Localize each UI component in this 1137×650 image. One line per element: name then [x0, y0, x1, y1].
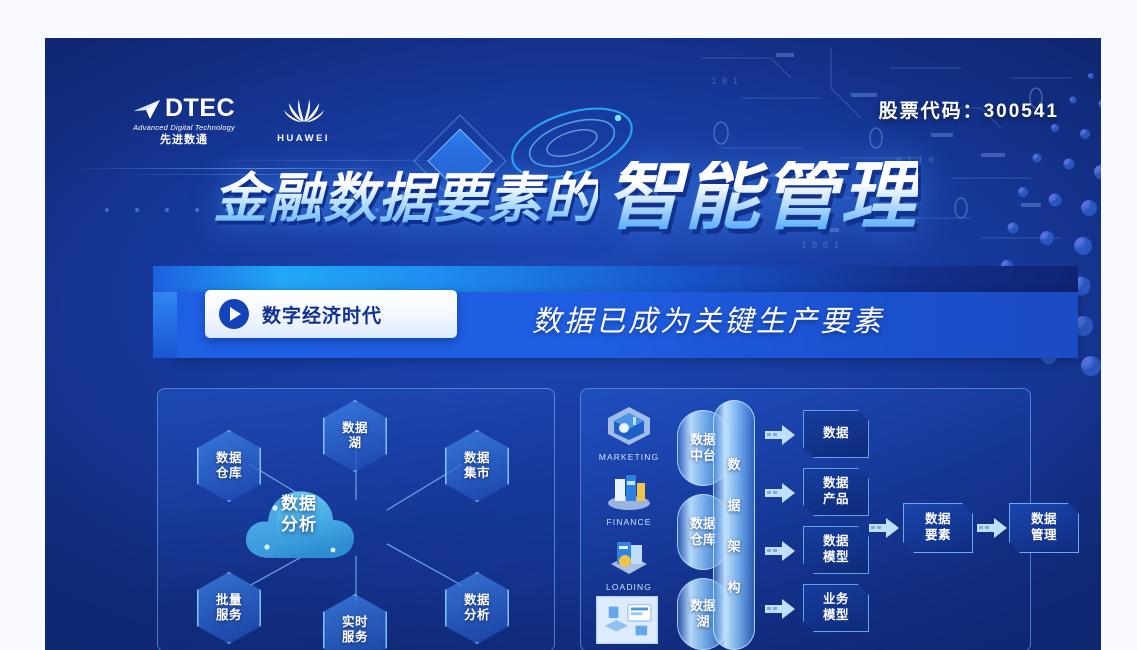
hex-label-line2: 服务: [216, 608, 242, 623]
arrow-right-icon: [765, 482, 795, 504]
output-box-data-product[interactable]: 数据 产品: [803, 468, 869, 516]
presentation-slide: 1 0 10 1 1 01 0 0 1: [45, 38, 1101, 650]
final-label-line1: 数据: [1031, 512, 1057, 526]
arrow-right-icon: [977, 517, 1007, 539]
final-label-line2: 管理: [1031, 528, 1057, 542]
stock-code-label: 股票代码：300541: [879, 96, 1059, 123]
dashboard-thumb-icon[interactable]: [596, 596, 658, 644]
arch-char-3: 架: [727, 536, 740, 555]
hex-label-line2: 湖: [348, 436, 361, 451]
dtec-mark-icon: [133, 98, 163, 120]
final-label-line2: 要素: [925, 528, 951, 542]
data-source-loading[interactable]: LOADING: [590, 534, 668, 598]
hex-label-line1: 数据: [464, 451, 490, 466]
output-box-business-model[interactable]: 业务 模型: [803, 584, 869, 632]
arrow-right-icon: [765, 598, 795, 620]
cube-box-icon: [603, 404, 655, 446]
data-source-column: MARKETING FINANCE LOADING: [590, 404, 668, 599]
huawei-wordmark: HUAWEI: [277, 133, 330, 144]
server-coin-icon: [603, 534, 655, 576]
output-box-data-model[interactable]: 数据 模型: [803, 526, 869, 574]
dtec-tagline: Advanced Digital Technology: [133, 124, 235, 132]
final-label-line1: 数据: [925, 512, 951, 526]
cloud-label-line2: 分析: [237, 514, 361, 535]
play-icon: [219, 299, 249, 329]
arrow-right-icon: [765, 540, 795, 562]
data-source-caption: LOADING: [590, 582, 668, 592]
hex-label-line1: 数据: [464, 593, 490, 608]
hex-label-line1: 批量: [216, 593, 242, 608]
hex-label-line2: 集市: [464, 466, 490, 481]
arch-char-1: 数: [727, 454, 740, 473]
output-label-line1: 业务: [823, 592, 849, 606]
svg-text:1 0 1: 1 0 1: [711, 77, 738, 87]
dtec-logo: DTEC Advanced Digital Technology 先进数通: [133, 96, 235, 146]
hex-label-line1: 数据: [216, 451, 242, 466]
cloud-label-line1: 数据: [237, 493, 361, 514]
page-title: 金融数据要素的 智能管理: [213, 154, 918, 233]
logo-group: DTEC Advanced Digital Technology 先进数通 HU…: [133, 96, 330, 146]
banner-headline: 数据已成为关键生产要素: [532, 298, 884, 340]
output-label-line2: 模型: [823, 550, 849, 564]
architecture-pillar[interactable]: 数 据 架 构: [713, 400, 755, 650]
hex-label-line2: 服务: [342, 630, 368, 645]
section-tag-label: 数字经济时代: [262, 301, 382, 328]
hex-node-data-mart[interactable]: 数据 集市: [445, 430, 509, 502]
arch-char-2: 据: [727, 495, 740, 514]
arrow-right-icon: [869, 517, 899, 539]
banner-top-strip: [153, 266, 1078, 292]
huawei-flower-icon: [283, 96, 325, 122]
dtec-chinese-name: 先进数通: [133, 135, 235, 146]
title-part-2: 智能管理: [606, 161, 918, 233]
huawei-logo: HUAWEI: [277, 96, 330, 144]
hex-node-data-lake[interactable]: 数据 湖: [323, 400, 387, 472]
hex-node-realtime-service[interactable]: 实时 服务: [323, 594, 387, 650]
arch-char-4: 构: [727, 577, 740, 596]
output-label-line2: 产品: [823, 492, 849, 506]
output-box-data[interactable]: 数据: [803, 410, 869, 458]
arrow-right-icon: [765, 424, 795, 446]
capsule-label-line2: 湖: [696, 614, 709, 629]
data-source-caption: FINANCE: [590, 517, 668, 527]
output-label-line2: 模型: [823, 608, 849, 622]
hex-node-data-analysis[interactable]: 数据 分析: [445, 572, 509, 644]
data-source-marketing[interactable]: MARKETING: [590, 404, 668, 468]
output-label-line1: 数据: [823, 534, 849, 548]
final-box-data-management[interactable]: 数据 管理: [1009, 503, 1079, 553]
section-tag-pill[interactable]: 数字经济时代: [205, 290, 457, 338]
hex-label-line1: 实时: [342, 615, 368, 630]
data-source-finance[interactable]: FINANCE: [590, 469, 668, 533]
hex-label-line1: 数据: [342, 421, 368, 436]
banner-left-glow: [153, 292, 177, 358]
hex-label-line2: 分析: [464, 608, 490, 623]
final-box-data-element[interactable]: 数据 要素: [903, 503, 973, 553]
hex-node-batch-service[interactable]: 批量 服务: [197, 572, 261, 644]
data-source-caption: MARKETING: [590, 452, 668, 462]
output-label-line1: 数据: [823, 476, 849, 490]
output-label-line1: 数据: [823, 426, 849, 440]
bank-chart-icon: [603, 469, 655, 511]
title-part-1: 金融数据要素的: [213, 154, 598, 233]
cloud-center-label: 数据 分析: [237, 493, 361, 536]
dtec-wordmark: DTEC: [165, 96, 235, 121]
svg-text:1 0 0 1: 1 0 0 1: [801, 241, 839, 251]
